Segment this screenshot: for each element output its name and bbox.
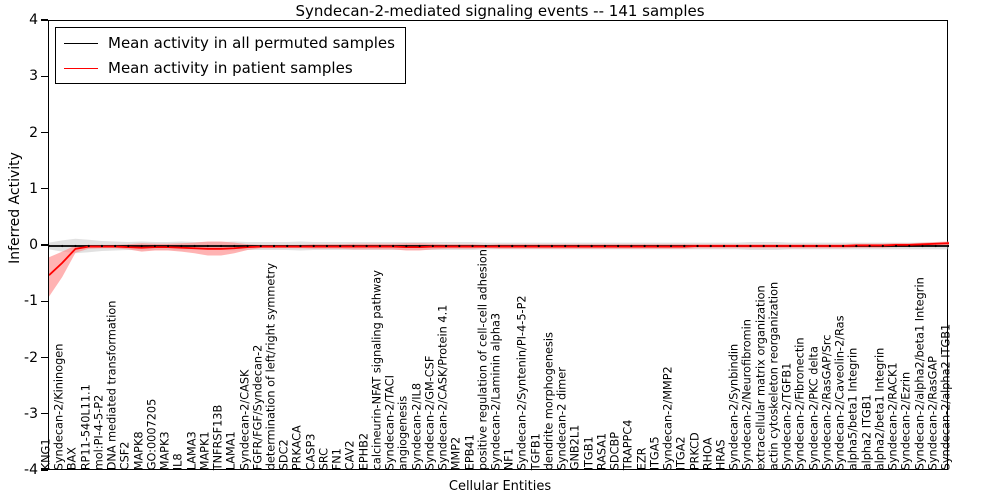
permuted-data-point (643, 245, 645, 247)
permuted-data-point (802, 245, 804, 247)
permuted-data-point (564, 245, 566, 247)
legend-item-patient: Mean activity in patient samples (64, 59, 395, 77)
permuted-data-point (313, 245, 315, 247)
permuted-data-point (339, 245, 341, 247)
y-tick-mark (41, 188, 48, 189)
patient-confidence-band (49, 242, 949, 297)
permuted-data-point (776, 245, 778, 247)
permuted-data-point (591, 245, 593, 247)
permuted-data-point (908, 245, 910, 247)
permuted-data-point (114, 245, 116, 247)
y-tick-mark (41, 301, 48, 302)
plot-area (48, 20, 948, 470)
permuted-data-point (935, 245, 937, 247)
permuted-data-point (127, 245, 129, 247)
permuted-data-point (763, 245, 765, 247)
permuted-data-point (577, 245, 579, 247)
permuted-data-point (141, 245, 143, 247)
permuted-data-point (246, 245, 248, 247)
plot-svg (49, 21, 949, 471)
permuted-data-point (101, 245, 103, 247)
permuted-data-point (604, 245, 606, 247)
legend-label-patient: Mean activity in patient samples (108, 59, 353, 77)
permuted-data-point (696, 245, 698, 247)
permuted-data-point (882, 245, 884, 247)
permuted-data-point (842, 245, 844, 247)
permuted-data-point (273, 245, 275, 247)
permuted-data-point (630, 245, 632, 247)
permuted-data-point (829, 245, 831, 247)
permuted-data-point (445, 245, 447, 247)
permuted-data-point (220, 245, 222, 247)
permuted-data-point (736, 245, 738, 247)
permuted-data-point (154, 245, 156, 247)
permuted-data-point (855, 245, 857, 247)
permuted-data-point (657, 245, 659, 247)
y-tick-mark (41, 357, 48, 358)
line-swatch-black-icon (64, 43, 98, 44)
permuted-data-point (167, 245, 169, 247)
y-tick-label: 3 (0, 68, 38, 84)
line-swatch-red-icon (64, 68, 98, 69)
permuted-data-point (207, 245, 209, 247)
permuted-data-point (511, 245, 513, 247)
permuted-data-point (816, 245, 818, 247)
y-tick-label: 4 (0, 12, 38, 28)
permuted-data-point (617, 245, 619, 247)
legend-item-permuted: Mean activity in all permuted samples (64, 34, 395, 52)
chart-root: Syndecan-2-mediated signaling events -- … (0, 0, 1000, 500)
permuted-data-point (538, 245, 540, 247)
permuted-data-point (683, 245, 685, 247)
permuted-data-point (286, 245, 288, 247)
permuted-data-point (921, 245, 923, 247)
x-axis-label: Cellular Entities (0, 479, 1000, 494)
permuted-data-point (710, 245, 712, 247)
chart-legend: Mean activity in all permuted samples Me… (55, 27, 406, 84)
permuted-data-point (260, 245, 262, 247)
y-tick-mark (41, 76, 48, 77)
permuted-data-point (868, 245, 870, 247)
permuted-data-point (74, 245, 76, 247)
permuted-data-point (233, 245, 235, 247)
permuted-data-point (379, 245, 381, 247)
permuted-data-point (405, 245, 407, 247)
permuted-data-point (180, 245, 182, 247)
y-axis-label: Inferred Activity (7, 98, 23, 318)
y-tick-label: -3 (0, 406, 38, 422)
permuted-data-point (895, 245, 897, 247)
permuted-data-point (392, 245, 394, 247)
permuted-data-point (432, 245, 434, 247)
y-tick-label: -4 (0, 462, 38, 478)
y-tick-mark (41, 469, 48, 470)
permuted-data-point (88, 245, 90, 247)
permuted-data-point (524, 245, 526, 247)
permuted-data-point (299, 245, 301, 247)
permuted-data-point (789, 245, 791, 247)
permuted-data-point (61, 245, 63, 247)
permuted-data-point (670, 245, 672, 247)
y-tick-mark (41, 244, 48, 245)
permuted-data-point (326, 245, 328, 247)
y-tick-mark (41, 413, 48, 414)
permuted-data-point (749, 245, 751, 247)
permuted-data-point (366, 245, 368, 247)
permuted-data-point (498, 245, 500, 247)
permuted-data-point (458, 245, 460, 247)
permuted-data-point (485, 245, 487, 247)
permuted-data-point (418, 245, 420, 247)
permuted-data-point (551, 245, 553, 247)
y-tick-label: -2 (0, 350, 38, 366)
y-tick-mark (41, 19, 48, 20)
y-tick-mark (41, 132, 48, 133)
permuted-data-point (471, 245, 473, 247)
permuted-data-point (193, 245, 195, 247)
legend-label-permuted: Mean activity in all permuted samples (108, 34, 395, 52)
permuted-data-point (352, 245, 354, 247)
permuted-data-point (723, 245, 725, 247)
